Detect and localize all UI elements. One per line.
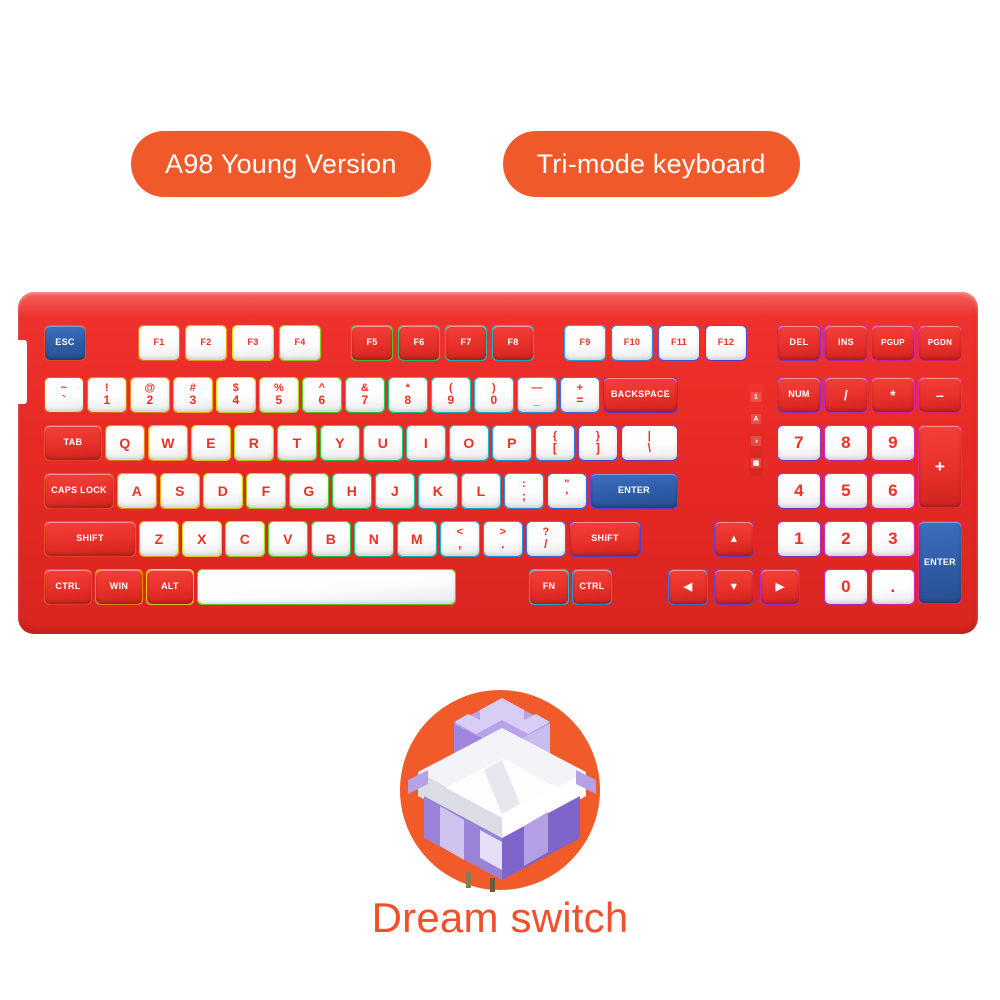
key-f5[interactable]: F5 [351,325,393,361]
key-legend: . [890,578,895,596]
key-[interactable]: / [824,377,868,413]
keycap: %5 [260,378,298,412]
keycap: (9 [432,378,470,412]
key-legend: Z [155,532,164,547]
key-l[interactable]: L [461,473,501,509]
key-legend: T [293,436,302,451]
key-6[interactable]: 6 [871,473,915,509]
key-[interactable]: —_ [517,377,557,413]
key-legend: WIN [110,582,128,591]
keycap: WIN [96,570,142,604]
key-legend: O [463,436,474,451]
keycap: F7 [446,326,486,360]
key-legend: 0 [841,578,851,596]
key-2[interactable]: @2 [130,377,170,413]
switch-circle-backdrop [400,690,600,890]
keycap: F10 [612,326,652,360]
key-legend: NUM [788,390,809,399]
key-t[interactable]: T [277,425,317,461]
keycap: F2 [186,326,226,360]
key-c[interactable]: C [225,521,265,557]
wireless-indicator: ◑ [751,436,761,446]
keycap: 4 [778,474,820,508]
key-f1[interactable]: F1 [138,325,180,361]
keycap: :; [505,474,543,508]
key-w[interactable]: W [148,425,188,461]
key-legend: ▶ [776,582,785,593]
key-shift[interactable]: SHIFT [569,521,641,557]
key-legend: F [262,484,271,499]
keycap: – [919,378,961,412]
key-legend: 9 [888,434,898,452]
key-f8[interactable]: F8 [492,325,534,361]
key-f11[interactable]: F11 [658,325,700,361]
key-8[interactable]: *8 [388,377,428,413]
key-f10[interactable]: F10 [611,325,653,361]
key-[interactable]: – [918,377,962,413]
badge-product-type-label: Tri-mode keyboard [537,149,766,180]
key-5[interactable]: 5 [824,473,868,509]
keycap: &7 [346,378,384,412]
key-legend-bottom: 1 [104,394,111,407]
key-[interactable]: "' [547,473,587,509]
key-[interactable]: >. [483,521,523,557]
key-legend: ESC [55,338,74,347]
switch-caption: Dream switch [0,894,1000,942]
key-a[interactable]: A [117,473,157,509]
key-num[interactable]: NUM [777,377,821,413]
keycap: O [450,426,488,460]
key-legend: P [507,436,517,451]
key-legend: FN [543,582,556,591]
key-legend: SHIFT [76,534,104,543]
key-legend: F1 [153,338,164,347]
key-[interactable]: ?/ [526,521,566,557]
key-k[interactable]: K [418,473,458,509]
key-legend-bottom: 3 [190,394,197,407]
keycap: D [204,474,242,508]
key-f7[interactable]: F7 [445,325,487,361]
key-legend-bottom: ; [522,490,526,503]
keycap [198,570,455,604]
key-legend-bottom: / [544,538,548,551]
keycap: {[ [536,426,574,460]
keycap: Y [321,426,359,460]
key-esc[interactable]: ESC [44,325,86,361]
keycap: 0 [825,570,867,604]
keycap: ESC [45,326,85,360]
keycap: |\ [622,426,677,460]
key-3[interactable]: #3 [173,377,213,413]
key-y[interactable]: Y [320,425,360,461]
keycap: 1 [778,522,820,556]
key-[interactable]: += [560,377,600,413]
keycap: ▶ [761,570,799,604]
key-legend-bottom: 6 [319,394,326,407]
keycap: T [278,426,316,460]
key-legend: F6 [413,338,424,347]
keycap: F [247,474,285,508]
key-f12[interactable]: F12 [705,325,747,361]
keycap: W [149,426,187,460]
badge-product-type: Tri-mode keyboard [503,131,800,197]
key-ins[interactable]: INS [824,325,868,361]
badge-product-name-label: A98 Young Version [165,149,397,180]
keycap: BACKSPACE [604,378,677,412]
key-pgup[interactable]: PGUP [871,325,915,361]
keycap: G [290,474,328,508]
keycap: Z [140,522,178,556]
key-7[interactable]: &7 [345,377,385,413]
key-9[interactable]: 9 [871,425,915,461]
key-legend-bottom: [ [553,442,557,455]
key-legend: A [132,484,142,499]
key-7[interactable]: 7 [777,425,821,461]
key-legend: B [326,532,336,547]
key-legend-bottom: 2 [147,394,154,407]
keycap: J [376,474,414,508]
key-legend: ENTER [618,486,650,495]
keycap: 3 [872,522,914,556]
keycap: P [493,426,531,460]
key-d[interactable]: D [203,473,243,509]
keycap: C [226,522,264,556]
space-key[interactable] [197,569,456,605]
key-s[interactable]: S [160,473,200,509]
keycap: S [161,474,199,508]
key-shift[interactable]: SHIFT [44,521,136,557]
key-f6[interactable]: F6 [398,325,440,361]
key-legend: U [378,436,388,451]
keycap: F4 [280,326,320,360]
keycap: N [355,522,393,556]
keycap: . [872,570,914,604]
key-legend-bottom: = [576,394,583,407]
keycap: I [407,426,445,460]
keycap: PGDN [919,326,961,360]
key-[interactable]: |\ [621,425,678,461]
keycap: NUM [778,378,820,412]
key-backspace[interactable]: BACKSPACE [603,377,678,413]
keycap: SHIFT [570,522,640,556]
keycap: H [333,474,371,508]
keycap: —_ [518,378,556,412]
keycap: 8 [825,426,867,460]
keycap: += [561,378,599,412]
key-legend-bottom: ' [565,490,568,503]
keycap: >. [484,522,522,556]
key-legend: F11 [671,338,687,347]
keycap: *8 [389,378,427,412]
key-del[interactable]: DEL [777,325,821,361]
key-pgdn[interactable]: PGDN [918,325,962,361]
key-legend: CTRL [55,582,80,591]
key-legend: PGUP [881,339,905,347]
key-legend-bottom: 7 [362,394,369,407]
key-legend: 8 [841,434,851,452]
key-legend: I [424,436,428,451]
key-legend: H [347,484,357,499]
key-legend: K [433,484,443,499]
keycap: )0 [475,378,513,412]
keycap: M [398,522,436,556]
keycap: ^6 [303,378,341,412]
mechanical-switch-illustration [384,684,616,896]
key-q[interactable]: Q [105,425,145,461]
key-legend: V [283,532,293,547]
keycap: ▼ [715,570,753,604]
key-[interactable]: ▶ [760,569,800,605]
keycap: $4 [217,378,255,412]
key-legend: 1 [794,530,804,548]
key-legend-bottom: ] [596,442,600,455]
keycap: A [118,474,156,508]
keycap: U [364,426,402,460]
keycap: * [872,378,914,412]
key-3[interactable]: 3 [871,521,915,557]
key-1[interactable]: !1 [87,377,127,413]
key-legend-bottom: ` [62,394,66,407]
key-legend-bottom: 8 [405,394,412,407]
key-legend: – [936,388,944,403]
switch-section: Dream switch [0,690,1000,942]
key-5[interactable]: %5 [259,377,299,413]
key-2[interactable]: 2 [824,521,868,557]
keycap: "' [548,474,586,508]
badge-product-name: A98 Young Version [131,131,431,197]
key-caps-lock[interactable]: CAPS LOCK [44,473,114,509]
keycap: <, [441,522,479,556]
key-e[interactable]: E [191,425,231,461]
keycap: F12 [706,326,746,360]
key-legend: F8 [507,338,518,347]
keycap: F11 [659,326,699,360]
keycap: ENTER [591,474,677,508]
key-legend-bottom: . [501,538,505,551]
key-legend: D [218,484,228,499]
key-legend: E [206,436,216,451]
key-[interactable]: ▼ [714,569,754,605]
key-legend: 5 [841,482,851,500]
key-legend: 4 [794,482,804,500]
key-legend: W [161,436,175,451]
keycap: SHIFT [45,522,135,556]
keycap: F9 [565,326,605,360]
key-4[interactable]: 4 [777,473,821,509]
key-legend: 6 [888,482,898,500]
key-legend: R [249,436,259,451]
key-legend: * [890,388,896,403]
key-legend: F9 [579,338,590,347]
badge-row: A98 Young Version Tri-mode keyboard [131,131,800,197]
key-legend: C [240,532,250,547]
key-[interactable]: ▲ [714,521,754,557]
key-legend: Y [335,436,345,451]
key-0[interactable]: 0 [824,569,868,605]
key-[interactable]: * [871,377,915,413]
keycap: Q [106,426,144,460]
keycap: ▲ [715,522,753,556]
key-legend: ALT [161,582,179,591]
key-legend: F4 [294,338,305,347]
key-tab[interactable]: TAB [44,425,102,461]
key-legend: 3 [888,530,898,548]
key-legend: DEL [790,338,809,347]
key-legend: 2 [841,530,851,548]
keycap: / [825,378,867,412]
key-legend-bottom: \ [648,442,652,455]
caps-lock-indicator: A [751,414,761,424]
key-8[interactable]: 8 [824,425,868,461]
key-legend: X [197,532,207,547]
key-legend: L [477,484,486,499]
key-legend: G [303,484,314,499]
keycap: R [235,426,273,460]
keycap: TAB [45,426,101,460]
key-v[interactable]: V [268,521,308,557]
keycap: F5 [352,326,392,360]
key-legend-bottom: 5 [276,394,283,407]
key-f3[interactable]: F3 [232,325,274,361]
key-ctrl[interactable]: CTRL [572,569,612,605]
key-legend: N [369,532,379,547]
battery-indicator: ▣ [751,458,761,468]
key-b[interactable]: B [311,521,351,557]
key-[interactable]: ◀ [668,569,708,605]
key-legend: F3 [247,338,258,347]
key-ctrl[interactable]: CTRL [44,569,92,605]
keycap: ?/ [527,522,565,556]
keyboard-product-image: ESCF1F2F3F4F5F6F7F8F9F10F11F12DELINSPGUP… [18,292,978,634]
keyboard-keys-area: ESCF1F2F3F4F5F6F7F8F9F10F11F12DELINSPGUP… [18,292,978,634]
key-enter[interactable]: ENTER [590,473,678,509]
key-fn[interactable]: FN [529,569,569,605]
key-legend: INS [838,338,854,347]
key-m[interactable]: M [397,521,437,557]
keycap: + [919,426,961,507]
key-[interactable]: }] [578,425,618,461]
key-1[interactable]: 1 [777,521,821,557]
key-9[interactable]: (9 [431,377,471,413]
keycap: ◀ [669,570,707,604]
key-i[interactable]: I [406,425,446,461]
key-legend: ENTER [924,558,956,567]
key-legend-bottom: , [458,538,462,551]
key-0[interactable]: )0 [474,377,514,413]
key-p[interactable]: P [492,425,532,461]
indicator-strip: 1A◑▣ [749,384,763,476]
key-win[interactable]: WIN [95,569,143,605]
key-legend-bottom: 9 [448,394,455,407]
key-legend: Q [119,436,130,451]
num-lock-indicator: 1 [751,392,761,402]
key-r[interactable]: R [234,425,274,461]
keycap: F8 [493,326,533,360]
key-z[interactable]: Z [139,521,179,557]
key-legend: F5 [366,338,377,347]
key-legend: F10 [624,338,640,347]
key-j[interactable]: J [375,473,415,509]
key-g[interactable]: G [289,473,329,509]
key-legend: BACKSPACE [611,390,670,399]
keycap: 2 [825,522,867,556]
keycap: CTRL [573,570,611,604]
key-legend-bottom: 4 [233,394,240,407]
key-[interactable]: + [918,425,962,508]
key-legend: CTRL [579,582,604,591]
key-legend: S [175,484,185,499]
key-f2[interactable]: F2 [185,325,227,361]
keycap: @2 [131,378,169,412]
keycap: }] [579,426,617,460]
keycap: DEL [778,326,820,360]
keycap: !1 [88,378,126,412]
keycap: 7 [778,426,820,460]
key-[interactable]: {[ [535,425,575,461]
keycap: ALT [147,570,193,604]
key-n[interactable]: N [354,521,394,557]
keycap: INS [825,326,867,360]
key-legend: TAB [64,438,83,447]
key-[interactable]: . [871,569,915,605]
key-legend: ▼ [728,582,739,593]
keycap: FN [530,570,568,604]
key-x[interactable]: X [182,521,222,557]
key-legend: CAPS LOCK [51,486,107,495]
key-legend-bottom: _ [534,394,541,407]
key-[interactable]: :; [504,473,544,509]
key-[interactable]: <, [440,521,480,557]
key-f4[interactable]: F4 [279,325,321,361]
key-enter[interactable]: ENTER [918,521,962,604]
keycap: 9 [872,426,914,460]
keycap: 6 [872,474,914,508]
key-legend: F2 [200,338,211,347]
key-legend: / [844,388,848,403]
keycap: ~` [45,378,83,412]
key-[interactable]: ~` [44,377,84,413]
keycap: K [419,474,457,508]
keycap: B [312,522,350,556]
key-legend: F12 [718,338,734,347]
keycap: ENTER [919,522,961,603]
keycap: V [269,522,307,556]
keycap: CTRL [45,570,91,604]
keycap: CAPS LOCK [45,474,113,508]
key-legend: J [391,484,399,499]
key-legend: F7 [460,338,471,347]
key-4[interactable]: $4 [216,377,256,413]
key-f9[interactable]: F9 [564,325,606,361]
key-legend: 7 [794,434,804,452]
key-u[interactable]: U [363,425,403,461]
key-o[interactable]: O [449,425,489,461]
key-legend: ▲ [728,534,739,545]
key-legend: M [411,532,423,547]
keycap: PGUP [872,326,914,360]
key-legend: SHIFT [591,534,619,543]
key-alt[interactable]: ALT [146,569,194,605]
key-h[interactable]: H [332,473,372,509]
key-legend: ◀ [684,582,693,593]
key-6[interactable]: ^6 [302,377,342,413]
keycap: F1 [139,326,179,360]
keycap: F6 [399,326,439,360]
key-legend-bottom: 0 [491,394,498,407]
key-f[interactable]: F [246,473,286,509]
key-legend: + [935,458,945,476]
key-legend: PGDN [928,339,952,347]
